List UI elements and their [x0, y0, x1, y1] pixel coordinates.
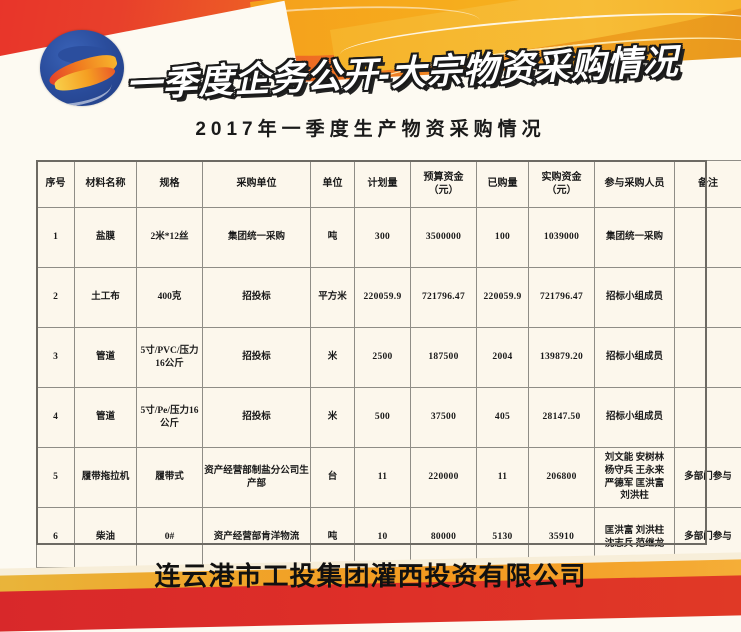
cell-spec: 400克 [137, 268, 203, 328]
col-header-personnel-l1: 参与采购人员 [596, 177, 673, 191]
table-row: 5履带拖拉机履带式资产经营部制盐分公司生产部台1122000011206800刘… [37, 448, 741, 508]
cell-budget-amount: 220000 [411, 448, 477, 508]
cell-seq: 5 [37, 448, 75, 508]
col-header-personnel: 参与采购人员 [595, 161, 675, 208]
cell-purchased-qty: 100 [477, 208, 529, 268]
cell-purchase-unit: 集团统一采购 [203, 208, 311, 268]
cell-actual-amount: 139879.20 [529, 328, 595, 388]
cell-unit: 平方米 [311, 268, 355, 328]
cell-remark [675, 208, 741, 268]
cell-planned-qty: 500 [355, 388, 411, 448]
procurement-table: 序号 材料名称 规格 采购单位 单位 计划量 预算资金 [36, 160, 741, 615]
cell-actual-amount: 206800 [529, 448, 595, 508]
col-header-budget-amount-l1: 预算资金 [412, 171, 475, 185]
cell-budget-amount: 187500 [411, 328, 477, 388]
cell-purchase-unit: 资产经营部制盐分公司生产部 [203, 448, 311, 508]
cell-remark [675, 328, 741, 388]
cell-purchased-qty: 220059.9 [477, 268, 529, 328]
cell-material: 履带拖拉机 [75, 448, 137, 508]
cell-purchased-qty: 405 [477, 388, 529, 448]
col-header-actual-amount-l1: 实购资金 [530, 171, 593, 185]
company-logo-icon [40, 30, 124, 106]
col-header-budget-amount-l2: （元） [412, 184, 475, 198]
cell-material: 土工布 [75, 268, 137, 328]
col-header-budget-amount: 预算资金 （元） [411, 161, 477, 208]
col-header-planned-qty: 计划量 [355, 161, 411, 208]
table-row: 2土工布400克招投标平方米220059.9721796.47220059.97… [37, 268, 741, 328]
cell-remark [675, 388, 741, 448]
col-header-spec-l1: 规格 [138, 177, 201, 191]
cell-budget-amount: 721796.47 [411, 268, 477, 328]
col-header-purchased-qty: 已购量 [477, 161, 529, 208]
cell-material: 管道 [75, 328, 137, 388]
cell-personnel: 集团统一采购 [595, 208, 675, 268]
col-header-purchase-unit-l1: 采购单位 [204, 177, 309, 191]
cell-planned-qty: 2500 [355, 328, 411, 388]
col-header-actual-amount-l2: （元） [530, 184, 593, 198]
cell-unit: 吨 [311, 208, 355, 268]
cell-purchase-unit: 招投标 [203, 268, 311, 328]
col-header-spec: 规格 [137, 161, 203, 208]
cell-unit: 米 [311, 328, 355, 388]
cell-purchased-qty: 11 [477, 448, 529, 508]
procurement-table-wrapper: 序号 材料名称 规格 采购单位 单位 计划量 预算资金 [36, 160, 707, 615]
col-header-material: 材料名称 [75, 161, 137, 208]
cell-purchase-unit: 招投标 [203, 328, 311, 388]
footer-company-name: 连云港市工投集团灌西投资有限公司 [0, 556, 741, 593]
cell-planned-qty: 11 [355, 448, 411, 508]
cell-seq: 2 [37, 268, 75, 328]
col-header-actual-amount: 实购资金 （元） [529, 161, 595, 208]
cell-material: 盐膜 [75, 208, 137, 268]
cell-planned-qty: 220059.9 [355, 268, 411, 328]
table-body: 1盐膜2米*12丝集团统一采购吨30035000001001039000集团统一… [37, 208, 741, 568]
col-header-unit: 单位 [311, 161, 355, 208]
col-header-unit-l1: 单位 [312, 177, 353, 191]
col-header-material-l1: 材料名称 [76, 177, 135, 191]
col-header-seq: 序号 [37, 161, 75, 208]
cell-spec: 履带式 [137, 448, 203, 508]
cell-actual-amount: 721796.47 [529, 268, 595, 328]
table-header-row: 序号 材料名称 规格 采购单位 单位 计划量 预算资金 [37, 161, 741, 208]
cell-remark [675, 268, 741, 328]
page-subtitle: 2017年一季度生产物资采购情况 [0, 114, 741, 141]
cell-budget-amount: 37500 [411, 388, 477, 448]
cell-actual-amount: 1039000 [529, 208, 595, 268]
cell-spec: 2米*12丝 [137, 208, 203, 268]
cell-seq: 3 [37, 328, 75, 388]
cell-purchase-unit: 招投标 [203, 388, 311, 448]
cell-purchased-qty: 2004 [477, 328, 529, 388]
cell-personnel: 招标小组成员 [595, 268, 675, 328]
cell-budget-amount: 3500000 [411, 208, 477, 268]
col-header-planned-qty-l1: 计划量 [356, 177, 409, 191]
col-header-seq-l1: 序号 [38, 177, 73, 191]
cell-personnel: 招标小组成员 [595, 328, 675, 388]
table-row: 3管道5寸/PVC/压力16公斤招投标米25001875002004139879… [37, 328, 741, 388]
cell-planned-qty: 300 [355, 208, 411, 268]
cell-personnel: 招标小组成员 [595, 388, 675, 448]
cell-personnel: 刘文能 安树林杨守兵 王永来严德军 匡洪富刘洪柱 [595, 448, 675, 508]
table-row: 4管道5寸/Pe/压力16公斤招投标米5003750040528147.50招标… [37, 388, 741, 448]
cell-seq: 4 [37, 388, 75, 448]
cell-seq: 1 [37, 208, 75, 268]
cell-actual-amount: 28147.50 [529, 388, 595, 448]
cell-spec: 5寸/Pe/压力16公斤 [137, 388, 203, 448]
col-header-purchased-qty-l1: 已购量 [478, 177, 527, 191]
col-header-remark: 备注 [675, 161, 741, 208]
table-row: 1盐膜2米*12丝集团统一采购吨30035000001001039000集团统一… [37, 208, 741, 268]
cell-material: 管道 [75, 388, 137, 448]
col-header-remark-l1: 备注 [676, 177, 740, 191]
header-banner: 一季度企务公开-大宗物资采购情况 [0, 0, 741, 112]
col-header-purchase-unit: 采购单位 [203, 161, 311, 208]
cell-spec: 5寸/PVC/压力16公斤 [137, 328, 203, 388]
cell-unit: 米 [311, 388, 355, 448]
cell-remark: 多部门参与 [675, 448, 741, 508]
cell-unit: 台 [311, 448, 355, 508]
